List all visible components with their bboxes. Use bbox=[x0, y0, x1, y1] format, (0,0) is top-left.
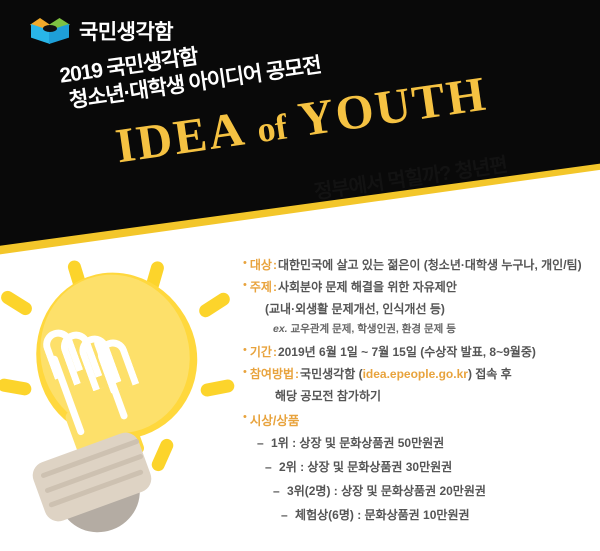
detail-separator: : bbox=[273, 278, 277, 296]
submission-url[interactable]: idea.epeople.go.kr bbox=[363, 365, 468, 383]
poster-root: 국민생각함 2019 국민생각함 청소년·대학생 아이디어 공모전 IDEA o… bbox=[0, 0, 600, 551]
bullet-icon: • bbox=[243, 343, 247, 359]
bullet-icon: • bbox=[243, 410, 247, 426]
bullet-icon: • bbox=[243, 365, 247, 381]
open-box-logo-icon bbox=[30, 14, 70, 47]
example-prefix: ex. bbox=[273, 323, 288, 335]
bullet-icon: • bbox=[243, 256, 247, 272]
prize-section-header: • 시상/상품 bbox=[243, 410, 595, 429]
prize-text: 체험상(6명) : 문화상품권 10만원권 bbox=[295, 508, 470, 522]
detail-separator: : bbox=[273, 343, 277, 361]
prize-dash-icon: – bbox=[273, 484, 280, 498]
prize-dash-icon: – bbox=[265, 460, 272, 474]
prize-section-label: 시상/상품 bbox=[250, 410, 299, 429]
detail-row-target: • 대상 : 대한민국에 살고 있는 젊은이 (청소년·대학생 누구나, 개인/… bbox=[243, 256, 595, 274]
prize-text: 3위(2명) : 상장 및 문화상품권 20만원권 bbox=[287, 484, 486, 498]
detail-subnote-howto: 해당 공모전 참가하기 bbox=[275, 387, 595, 404]
prize-item: – 2위 : 상장 및 문화상품권 30만원권 bbox=[265, 458, 595, 475]
prize-item: – 체험상(6명) : 문화상품권 10만원권 bbox=[281, 506, 595, 523]
lightbulb-illustration bbox=[8, 258, 234, 538]
brand-logo[interactable]: 국민생각함 bbox=[30, 14, 173, 47]
detail-row-topic: • 주제 : 사회분야 문제 해결을 위한 자유제안 bbox=[243, 278, 595, 296]
detail-row-howto: • 참여방법 : 국민생각함 ( idea.epeople.go.kr ) 접속… bbox=[243, 365, 595, 383]
prize-item: – 3위(2명) : 상장 및 문화상품권 20만원권 bbox=[273, 482, 595, 499]
bulb-ray bbox=[150, 437, 176, 473]
prize-dash-icon: – bbox=[281, 508, 288, 522]
detail-value: 2019년 6월 1일 ~ 7월 15일 (수상작 발표, 8~9월중) bbox=[278, 343, 536, 361]
prize-text: 1위 : 상장 및 문화상품권 50만원권 bbox=[271, 436, 444, 450]
brand-name: 국민생각함 bbox=[79, 16, 173, 46]
detail-example-topic: ex. 교우관계 문제, 학생인권, 환경 문제 등 bbox=[273, 321, 595, 336]
detail-value-prefix: 국민생각함 ( bbox=[300, 365, 363, 383]
bulb-ray bbox=[0, 288, 34, 317]
detail-label: 참여방법 bbox=[250, 365, 294, 383]
bulb-ray bbox=[0, 378, 32, 397]
detail-separator: : bbox=[273, 256, 277, 274]
bulb-ray bbox=[200, 378, 236, 397]
details-panel: • 대상 : 대한민국에 살고 있는 젊은이 (청소년·대학생 누구나, 개인/… bbox=[243, 256, 595, 530]
detail-value: 대한민국에 살고 있는 젊은이 (청소년·대학생 누구나, 개인/팀) bbox=[278, 256, 582, 274]
detail-label: 대상 bbox=[250, 256, 272, 274]
detail-label: 기간 bbox=[250, 343, 272, 361]
title-of: of bbox=[254, 106, 289, 150]
detail-row-period: • 기간 : 2019년 6월 1일 ~ 7월 15일 (수상작 발표, 8~9… bbox=[243, 343, 595, 361]
bulb-ray bbox=[197, 290, 233, 319]
prize-dash-icon: – bbox=[257, 436, 264, 450]
prize-text: 2위 : 상장 및 문화상품권 30만원권 bbox=[279, 460, 452, 474]
detail-separator: : bbox=[295, 365, 299, 383]
detail-value: 사회분야 문제 해결을 위한 자유제안 bbox=[278, 278, 457, 296]
prize-item: – 1위 : 상장 및 문화상품권 50만원권 bbox=[257, 434, 595, 451]
detail-subnote-topic: (교내·외생활 문제개선, 인식개선 등) bbox=[265, 300, 595, 317]
bullet-icon: • bbox=[243, 278, 247, 294]
example-text: 교우관계 문제, 학생인권, 환경 문제 등 bbox=[291, 323, 456, 335]
detail-value-suffix: ) 접속 후 bbox=[468, 365, 512, 383]
detail-label: 주제 bbox=[250, 278, 272, 296]
